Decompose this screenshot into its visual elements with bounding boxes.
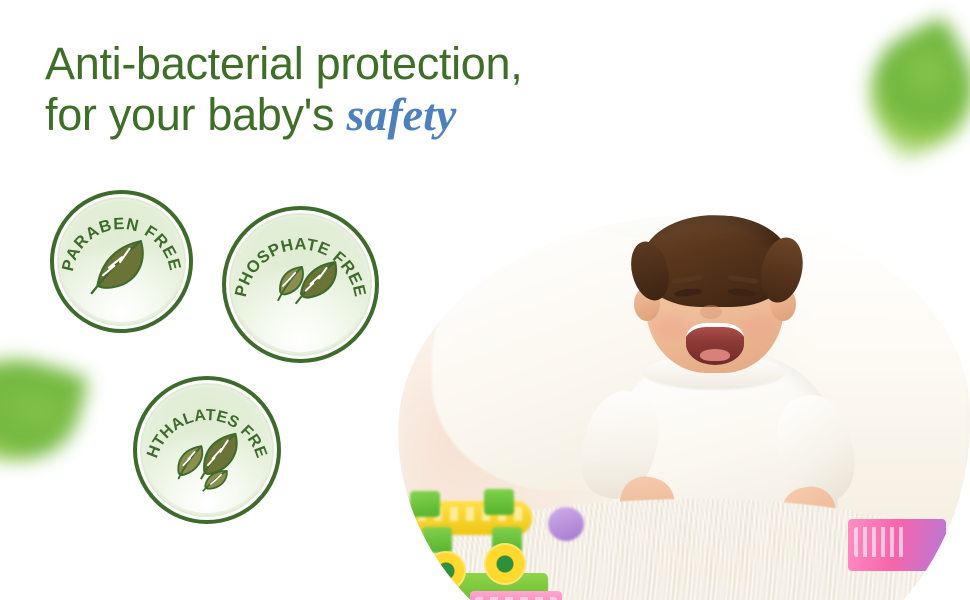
headline-line-2: for your baby's safety xyxy=(45,89,605,140)
baby-cheek-right xyxy=(742,315,776,339)
headline-block: Anti-bacterial protection, for your baby… xyxy=(45,38,605,140)
headline-line-2-prefix: for your baby's xyxy=(45,89,346,140)
badge-phthalates-graphic: PHTHALATES FREE xyxy=(137,380,277,520)
leaf-icon-single xyxy=(92,241,143,293)
toy-green-edge xyxy=(398,545,414,591)
badge-phosphate-free: PHOSPHATE FREE xyxy=(222,206,379,363)
headline-line-1: Anti-bacterial protection, xyxy=(45,38,605,89)
leaf-icon-bottom-left xyxy=(0,343,90,478)
baby-mouth xyxy=(686,323,744,365)
toy-wheel-yellow-1 xyxy=(426,551,466,591)
baby-cheek-left xyxy=(654,315,688,339)
badge-paraben-graphic: PARABEN FREE xyxy=(54,194,189,329)
baby-nose xyxy=(700,305,722,319)
headline-accent-word: safety xyxy=(346,89,456,140)
toy-purple-disc xyxy=(548,507,584,541)
leaf-icon-triple xyxy=(178,434,236,491)
toy-green-knob-3 xyxy=(422,527,452,553)
toy-pink-purple-brick xyxy=(848,519,946,571)
baby-playing-photo xyxy=(398,215,970,600)
badge-paraben-free: PARABEN FREE xyxy=(50,190,193,333)
toy-pink-block xyxy=(470,591,562,600)
toy-green-knob-2 xyxy=(484,489,514,515)
toy-green-knob-1 xyxy=(410,491,440,517)
leaf-icon-double xyxy=(278,262,336,303)
toy-wheel-yellow-2 xyxy=(484,543,526,585)
baby-hair xyxy=(642,215,790,307)
badge-phosphate-graphic: PHOSPHATE FREE xyxy=(226,210,375,359)
leaf-icon-top-right xyxy=(848,15,970,165)
photo-oval-mask xyxy=(398,215,970,600)
badge-phthalates-free: PHTHALATES FREE xyxy=(133,376,281,524)
promo-banner: Anti-bacterial protection, for your baby… xyxy=(0,0,970,600)
